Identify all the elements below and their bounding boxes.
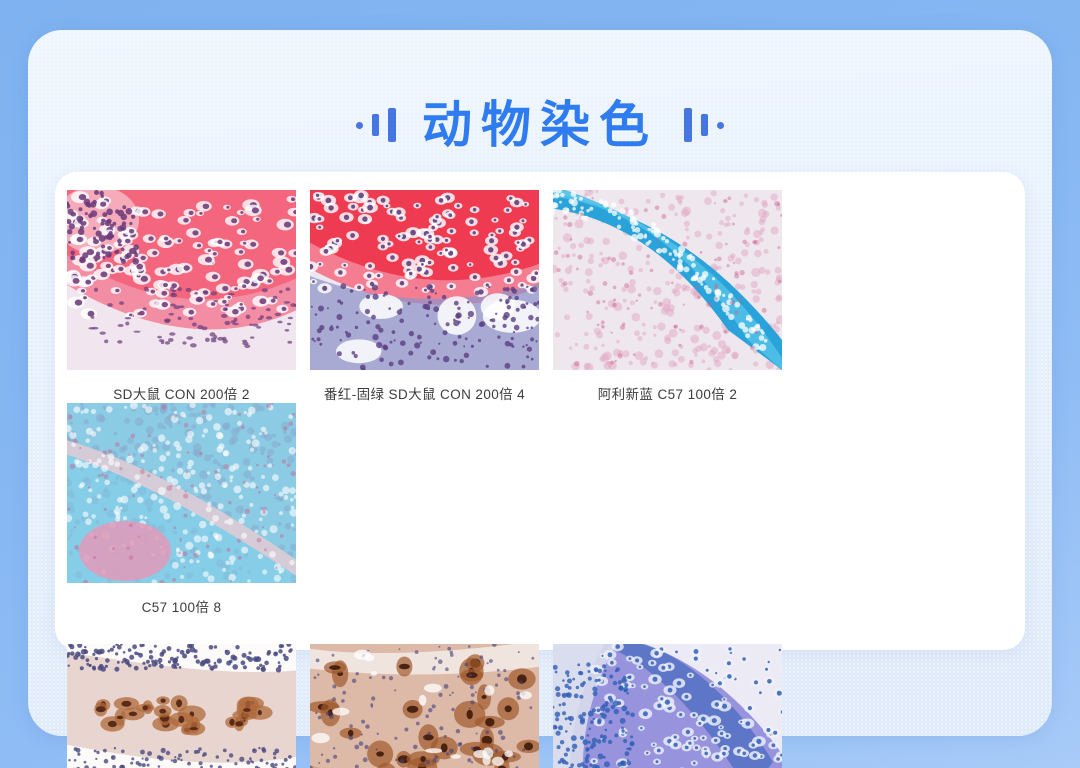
micrograph-thumbnail[interactable] xyxy=(67,644,296,768)
micrograph-thumbnail[interactable] xyxy=(553,644,782,768)
micrograph-caption: 番红-固绿 SD大鼠 CON 200倍 4 xyxy=(310,383,539,403)
gallery-grid: SD大鼠 CON 200倍 2番红-固绿 SD大鼠 CON 200倍 4阿利新蓝… xyxy=(67,190,1013,768)
title-decoration-right xyxy=(684,108,724,142)
gallery-item[interactable]: C57 100倍 8 xyxy=(67,403,296,616)
gallery-item[interactable]: C57小鼠 正常关节 200倍 2 xyxy=(310,644,539,768)
gallery-item[interactable]: 番红-固绿 SD大鼠 CON 200倍 4 xyxy=(310,190,539,403)
micrograph-thumbnail[interactable] xyxy=(553,190,782,370)
mid-bar-marker-icon xyxy=(701,114,708,136)
dot-marker-icon xyxy=(717,122,724,129)
gallery-item[interactable]: C57小鼠 正常关节 100倍 5 xyxy=(67,644,296,768)
title-decoration-left xyxy=(356,108,396,142)
micrograph-caption: C57 100倍 8 xyxy=(67,596,296,616)
tall-bar-marker-icon xyxy=(684,108,692,142)
gallery-card: SD大鼠 CON 200倍 2番红-固绿 SD大鼠 CON 200倍 4阿利新蓝… xyxy=(55,172,1025,650)
micrograph-thumbnail[interactable] xyxy=(310,644,539,768)
micrograph-thumbnail[interactable] xyxy=(67,190,296,370)
tall-bar-marker-icon xyxy=(388,108,396,142)
gallery-item[interactable]: 阿利新蓝 C57 100倍 2 xyxy=(553,190,782,403)
gallery-row-gap xyxy=(67,616,1013,644)
dot-marker-icon xyxy=(356,122,363,129)
micrograph-thumbnail[interactable] xyxy=(310,190,539,370)
gallery-item[interactable]: C57小鼠 正常关节 200倍 2 xyxy=(553,644,782,768)
mid-bar-marker-icon xyxy=(372,114,379,136)
title-row: 动物染色 xyxy=(0,92,1080,158)
page-root: 动物染色 SD大鼠 CON 200倍 2番红-固绿 SD大鼠 CON 200倍 … xyxy=(0,0,1080,768)
micrograph-caption: SD大鼠 CON 200倍 2 xyxy=(67,383,296,403)
micrograph-caption: 阿利新蓝 C57 100倍 2 xyxy=(553,383,782,403)
gallery-item[interactable]: SD大鼠 CON 200倍 2 xyxy=(67,190,296,403)
page-title: 动物染色 xyxy=(422,100,658,150)
micrograph-thumbnail[interactable] xyxy=(67,403,296,583)
